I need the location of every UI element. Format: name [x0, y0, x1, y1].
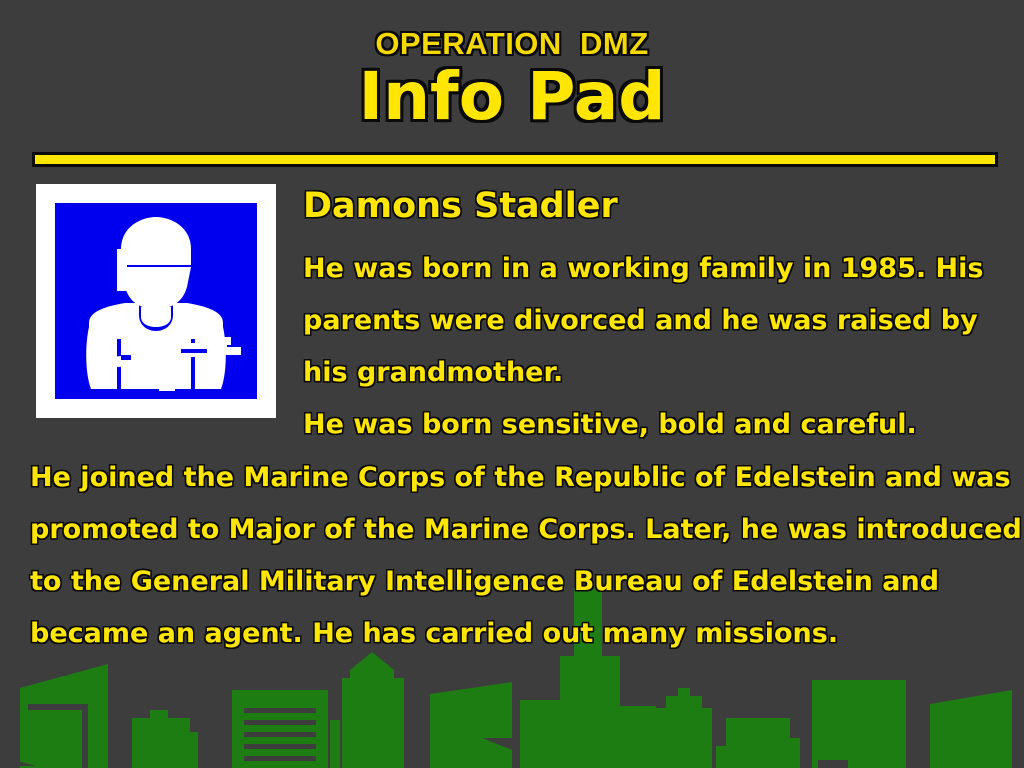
bio-line: his grandmother. — [303, 347, 1015, 399]
profile-name: Damons Stadler — [303, 186, 618, 226]
bio-line: became an agent. He has carried out many… — [30, 608, 1024, 660]
header: OPERATION DMZ Info Pad — [0, 0, 1024, 135]
bio-line: He was born in a working family in 1985.… — [303, 243, 1015, 295]
page-title: Info Pad — [0, 58, 1024, 135]
bio-line: parents were divorced and he was raised … — [303, 295, 1015, 347]
portrait-frame — [36, 184, 276, 418]
soldier-with-rifle-icon — [55, 203, 257, 399]
bio-paragraph-top: He was born in a working family in 1985.… — [303, 243, 1015, 451]
header-divider — [32, 152, 998, 167]
bio-line: to the General Military Intelligence Bur… — [30, 556, 1024, 608]
operation-kicker: OPERATION DMZ — [0, 0, 1024, 62]
info-pad-screen: OPERATION DMZ Info Pad — [0, 0, 1024, 768]
bio-paragraph-bottom: He joined the Marine Corps of the Republ… — [30, 452, 1024, 660]
bio-line: He was born sensitive, bold and careful. — [303, 399, 1015, 451]
bio-line: He joined the Marine Corps of the Republ… — [30, 452, 1024, 504]
bio-line: promoted to Major of the Marine Corps. L… — [30, 504, 1024, 556]
